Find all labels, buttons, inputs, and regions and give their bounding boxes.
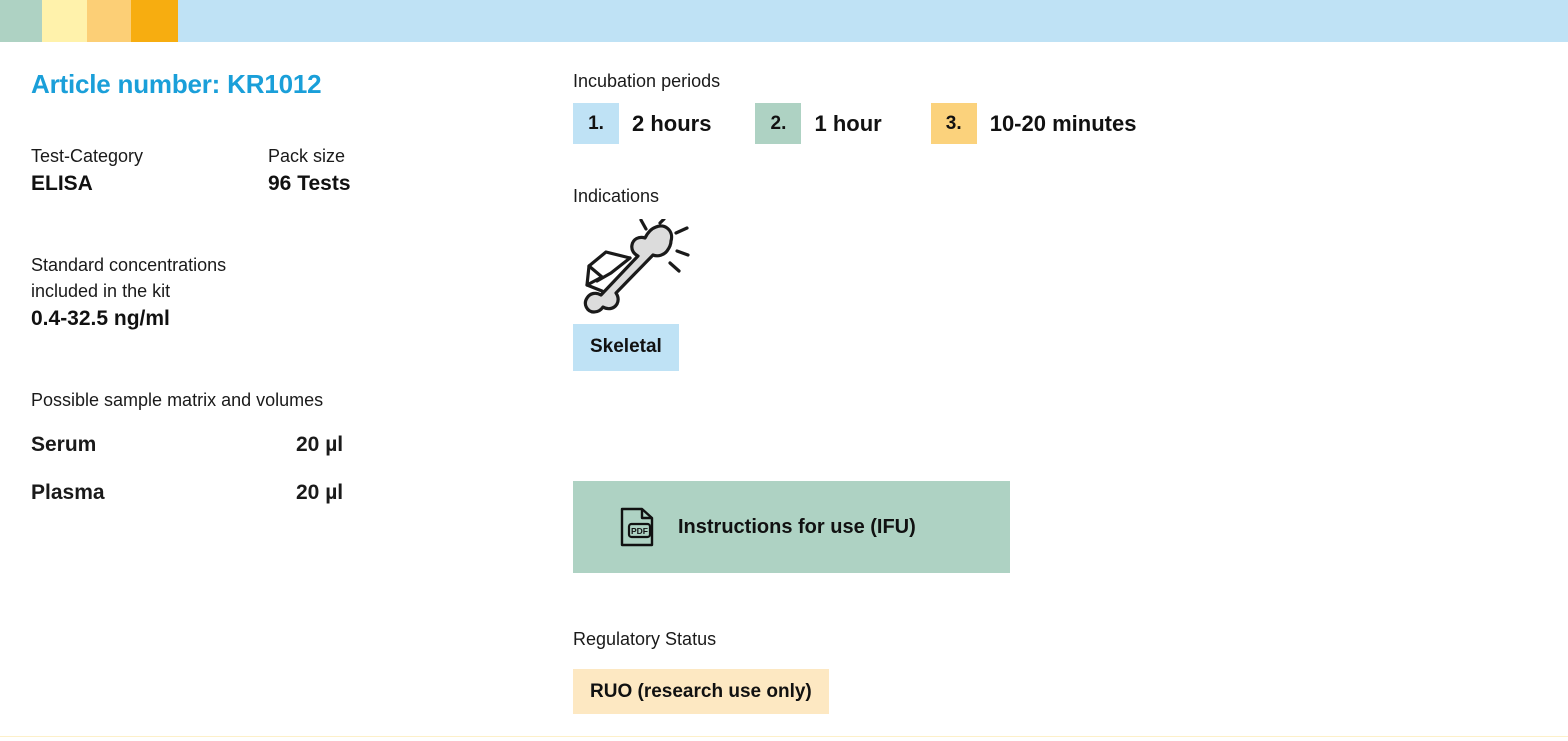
bone-icon <box>575 219 691 321</box>
incubation-step-duration: 2 hours <box>632 111 711 137</box>
color-swatch-dark-orange <box>131 0 178 42</box>
color-swatch-light-blue <box>178 0 1568 42</box>
page-title: Article number: KR1012 <box>31 70 531 99</box>
indication-badge-skeletal: Skeletal <box>573 324 679 371</box>
indications-label: Indications <box>573 185 1533 208</box>
incubation-steps-list: 1. 2 hours 2. 1 hour 3. 10-20 minutes <box>573 103 1533 144</box>
test-category-pack-size-labels: Test-Category Pack size <box>31 143 531 169</box>
incubation-step-number-badge: 3. <box>931 103 977 144</box>
regulatory-status-label: Regulatory Status <box>573 628 1073 651</box>
standard-concentrations-label-line2: included in the kit <box>31 278 531 304</box>
pack-size-label: Pack size <box>268 143 508 169</box>
product-details-column: Article number: KR1012 Test-Category Pac… <box>31 70 531 529</box>
instructions-for-use-button[interactable]: PDF Instructions for use (IFU) <box>573 481 1010 573</box>
sample-matrix-volume: 20 µl <box>296 433 343 457</box>
sample-matrix-name: Plasma <box>31 481 296 505</box>
assay-info-column: Incubation periods 1. 2 hours 2. 1 hour … <box>573 70 1533 371</box>
instructions-for-use-label: Instructions for use (IFU) <box>678 516 916 539</box>
pack-size-value: 96 Tests <box>268 169 508 199</box>
bottom-divider <box>0 736 1568 737</box>
standard-concentrations-block: Standard concentrations included in the … <box>31 252 531 335</box>
sample-matrix-label: Possible sample matrix and volumes <box>31 387 531 413</box>
test-category-pack-size-values: ELISA 96 Tests <box>31 169 531 199</box>
incubation-step-1: 1. 2 hours <box>573 103 711 144</box>
incubation-step-number-badge: 1. <box>573 103 619 144</box>
color-swatch-green <box>0 0 42 42</box>
sample-matrix-block: Possible sample matrix and volumes Serum… <box>31 387 531 505</box>
sample-matrix-volume: 20 µl <box>296 481 343 505</box>
spacer <box>882 103 931 144</box>
color-swatch-light-orange <box>87 0 131 42</box>
table-row: Plasma 20 µl <box>31 481 531 505</box>
spacer <box>31 335 531 387</box>
spacer <box>31 199 531 252</box>
incubation-step-duration: 10-20 minutes <box>990 111 1137 137</box>
pdf-file-icon: PDF <box>620 507 654 547</box>
spacer <box>31 413 531 433</box>
incubation-step-number-badge: 2. <box>755 103 801 144</box>
svg-text:PDF: PDF <box>631 526 648 536</box>
incubation-step-3: 3. 10-20 minutes <box>931 103 1137 144</box>
test-category-label: Test-Category <box>31 143 268 169</box>
incubation-step-duration: 1 hour <box>814 111 881 137</box>
color-swatch-light-yellow <box>42 0 87 42</box>
regulatory-status-block: Regulatory Status RUO (research use only… <box>573 628 1073 714</box>
test-category-value: ELISA <box>31 169 268 199</box>
standard-concentrations-value: 0.4-32.5 ng/ml <box>31 304 531 334</box>
top-color-bar <box>0 0 1568 42</box>
standard-concentrations-label-line1: Standard concentrations <box>31 252 531 278</box>
incubation-step-2: 2. 1 hour <box>755 103 881 144</box>
status-badge: RUO (research use only) <box>573 669 829 714</box>
table-row: Serum 20 µl <box>31 433 531 457</box>
incubation-periods-label: Incubation periods <box>573 70 1533 93</box>
indications-block: Indications Skeletal <box>573 185 1533 370</box>
spacer <box>711 103 755 144</box>
incubation-periods-block: Incubation periods 1. 2 hours 2. 1 hour … <box>573 70 1533 144</box>
sample-matrix-name: Serum <box>31 433 296 457</box>
